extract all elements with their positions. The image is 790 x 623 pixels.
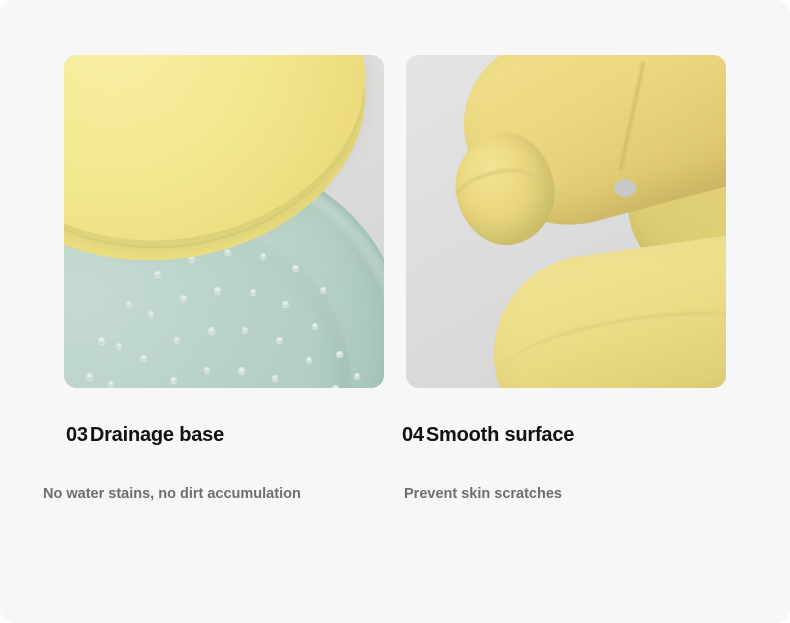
drain-hole (332, 385, 339, 388)
feature-subtitle-04: Prevent skin scratches (404, 486, 562, 502)
drain-hole (108, 381, 114, 387)
drain-hole (154, 271, 161, 277)
drain-hole (98, 337, 105, 344)
feature-card: 03Drainage base No water stains, no dirt… (0, 0, 790, 623)
feature-image-drainage-base (64, 55, 384, 388)
drain-hole (250, 289, 256, 295)
drain-hole (116, 343, 122, 349)
drain-hole (126, 301, 132, 307)
drain-hole (282, 301, 289, 307)
drain-hole (260, 253, 266, 259)
drain-hole (208, 327, 215, 334)
drain-hole (272, 375, 278, 381)
drain-hole (214, 287, 221, 294)
feature-index-04: 04 (402, 424, 424, 446)
drain-hole (86, 373, 93, 380)
feature-subtitle-03: No water stains, no dirt accumulation (43, 486, 301, 502)
drain-hole (174, 337, 180, 343)
drain-hole (238, 367, 245, 374)
drain-hole (354, 373, 360, 379)
drain-hole (224, 249, 231, 255)
drain-hole (336, 351, 343, 357)
drain-hole (292, 265, 299, 271)
feature-title-04: 04Smooth surface (402, 424, 574, 447)
drainage-base-photo (64, 55, 384, 388)
caption-drainage-base: 03Drainage base (66, 424, 224, 447)
drain-hole (148, 311, 154, 317)
caption-smooth-surface: 04Smooth surface (402, 424, 574, 447)
drain-hole (242, 327, 248, 333)
drain-hole (204, 367, 210, 373)
grey-pivot-pin (614, 179, 636, 197)
feature-title-text-03: Drainage base (90, 424, 224, 446)
drain-hole (180, 295, 187, 301)
drain-hole (320, 287, 326, 293)
drain-hole (312, 323, 318, 329)
smooth-surface-photo (406, 55, 726, 388)
feature-title-text-04: Smooth surface (426, 424, 574, 446)
drain-hole (140, 355, 147, 361)
drain-hole (170, 377, 177, 383)
feature-image-smooth-surface (406, 55, 726, 388)
drain-hole (306, 357, 312, 363)
feature-index-03: 03 (66, 424, 88, 446)
feature-title-03: 03Drainage base (66, 424, 224, 447)
drain-hole (276, 337, 283, 343)
